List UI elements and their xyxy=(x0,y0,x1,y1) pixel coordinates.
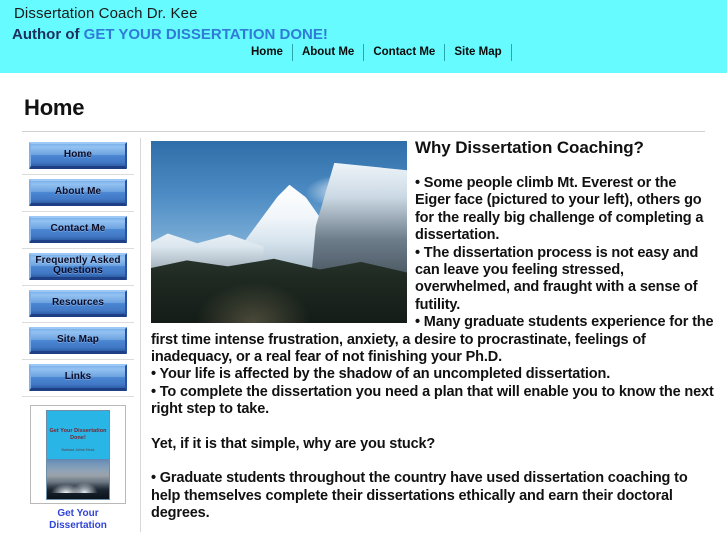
main-paragraph-4: • Your life is affected by the shadow of… xyxy=(151,366,715,383)
sidebar-item-about-me-label: About Me xyxy=(55,187,101,197)
book-title-link[interactable]: GET YOUR DISSERTATION DONE! xyxy=(84,26,328,43)
sidebar-item-site-map[interactable]: Site Map xyxy=(29,327,127,354)
sidebar-book-promo: Get Your Dissertation Done! Barbara Joli… xyxy=(22,397,134,532)
sidebar-item-about-me[interactable]: About Me xyxy=(29,179,127,206)
sidebar-cell-faq: Frequently Asked Questions xyxy=(22,249,134,286)
sidebar-cell-about-me: About Me xyxy=(22,175,134,212)
book-cover-title: Get Your Dissertation Done! xyxy=(47,428,109,442)
site-header: Dissertation Coach Dr. Kee Author of GET… xyxy=(0,0,727,73)
paragraph-spacer-1 xyxy=(151,419,715,436)
sidebar-item-resources[interactable]: Resources xyxy=(29,290,127,317)
sidebar-item-links-label: Links xyxy=(65,372,92,382)
sidebar-item-links[interactable]: Links xyxy=(29,364,127,391)
sidebar-cell-resources: Resources xyxy=(22,286,134,323)
sidebar-item-faq-label-line2: Questions xyxy=(35,266,120,276)
sidebar-item-home[interactable]: Home xyxy=(29,142,127,169)
eiger-mountain-photo xyxy=(151,141,407,323)
photo-valley xyxy=(197,283,310,323)
site-title: Dissertation Coach Dr. Kee xyxy=(14,5,198,22)
book-thumbnail-frame[interactable]: Get Your Dissertation Done! Barbara Joli… xyxy=(30,405,126,504)
book-cover-peak xyxy=(51,477,106,493)
sidebar-cell-links: Links xyxy=(22,360,134,397)
book-cover-mountain-photo xyxy=(47,459,109,499)
main-paragraph-6: • Graduate students throughout the count… xyxy=(151,470,715,522)
main-paragraph-5: • To complete the dissertation you need … xyxy=(151,384,715,419)
sidebar-item-contact-me[interactable]: Contact Me xyxy=(29,216,127,243)
sidebar-item-contact-me-label: Contact Me xyxy=(51,224,106,234)
book-cover-author: Barbara Joline Kleck xyxy=(47,448,109,452)
site-subtitle: Author of GET YOUR DISSERTATION DONE! xyxy=(12,26,328,43)
sidebar-cell-site-map: Site Map xyxy=(22,323,134,360)
book-caption-link[interactable]: Get Your Dissertation xyxy=(28,508,128,532)
sidebar: Home About Me Contact Me Frequently Aske… xyxy=(22,138,141,532)
sidebar-item-home-label: Home xyxy=(64,150,92,160)
sidebar-item-resources-label: Resources xyxy=(52,298,104,308)
nav-link-contact-me[interactable]: Contact Me xyxy=(364,44,445,61)
nav-link-home[interactable]: Home xyxy=(245,44,293,61)
sidebar-cell-contact-me: Contact Me xyxy=(22,212,134,249)
nav-link-site-map[interactable]: Site Map xyxy=(445,44,511,61)
sidebar-item-site-map-label: Site Map xyxy=(57,335,99,345)
book-cover-image: Get Your Dissertation Done! Barbara Joli… xyxy=(46,410,110,500)
nav-link-about-me[interactable]: About Me xyxy=(293,44,364,61)
content-wrapper: Home About Me Contact Me Frequently Aske… xyxy=(0,132,727,532)
author-of-label: Author of xyxy=(12,26,84,43)
top-navigation: Home About Me Contact Me Site Map xyxy=(245,44,512,61)
main-content: Why Dissertation Coaching? • Some people… xyxy=(141,138,727,522)
sidebar-item-faq[interactable]: Frequently Asked Questions xyxy=(29,253,127,280)
page-title: Home xyxy=(24,95,727,121)
sidebar-cell-home: Home xyxy=(22,138,134,175)
main-question-line: Yet, if it is that simple, why are you s… xyxy=(151,436,715,453)
paragraph-spacer-2 xyxy=(151,453,715,470)
